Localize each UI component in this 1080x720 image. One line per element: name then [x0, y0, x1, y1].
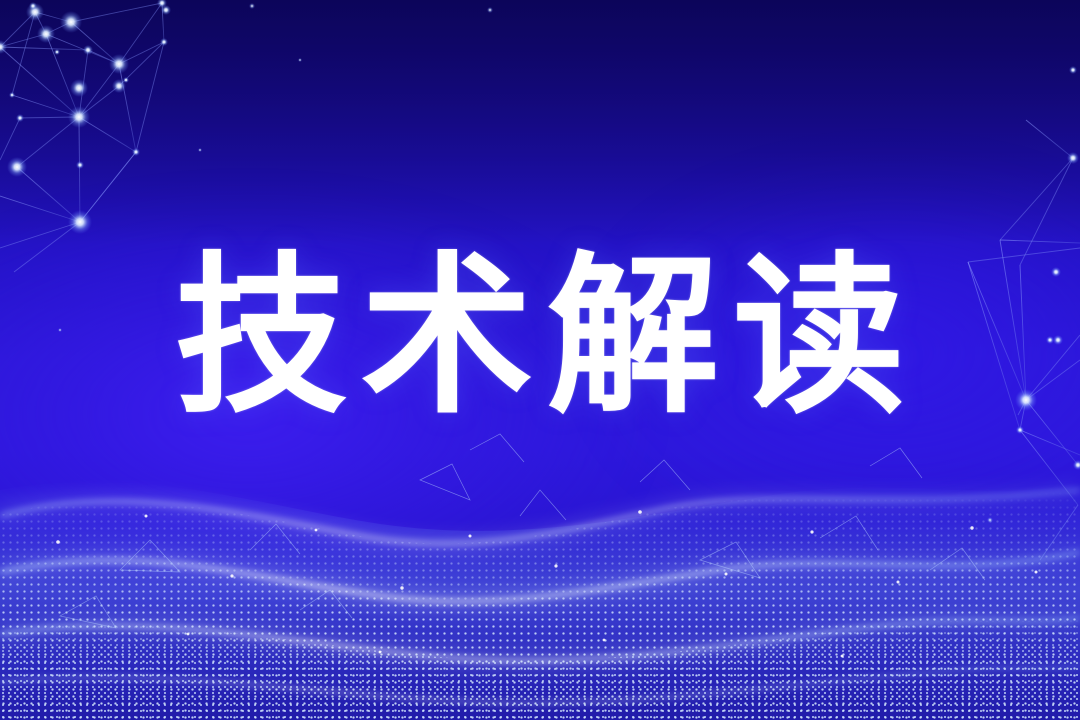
poster-canvas: 技术解读 — [0, 0, 1080, 720]
poster-title-container: 技术解读 — [0, 248, 1080, 427]
poster-title: 技术解读 — [161, 248, 919, 427]
top-vignette — [0, 0, 1080, 245]
